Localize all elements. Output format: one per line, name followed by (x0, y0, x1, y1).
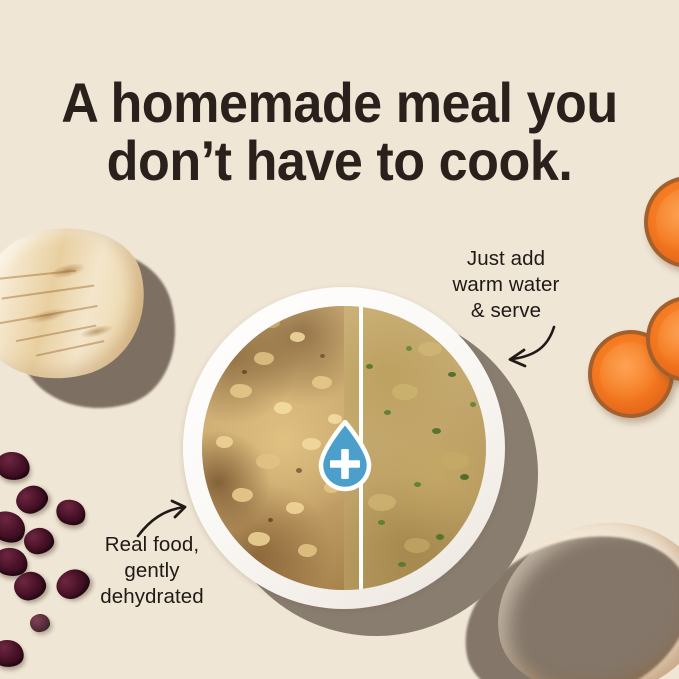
anno-right-line-2: warm water (421, 272, 591, 298)
anno-right-line-1: Just add (421, 246, 591, 272)
water-drop-plus-icon (316, 420, 374, 494)
curved-arrow-down-left-icon (498, 322, 560, 370)
page-title: A homemade meal you don’t have to cook. (24, 74, 655, 190)
curved-arrow-up-right-icon (134, 498, 194, 542)
product-hero-image: A homemade meal you don’t have to cook. (0, 0, 679, 679)
annotation-just-add-warm-water: Just add warm water & serve (421, 246, 591, 324)
anno-right-line-3: & serve (421, 298, 591, 324)
anno-left-line-3: dehydrated (72, 584, 232, 610)
headline-line-1: A homemade meal you (24, 74, 655, 132)
anno-left-line-2: gently (72, 558, 232, 584)
headline-line-2: don’t have to cook. (24, 132, 655, 190)
annotation-real-food-gently-dehydrated: Real food, gently dehydrated (72, 532, 232, 610)
